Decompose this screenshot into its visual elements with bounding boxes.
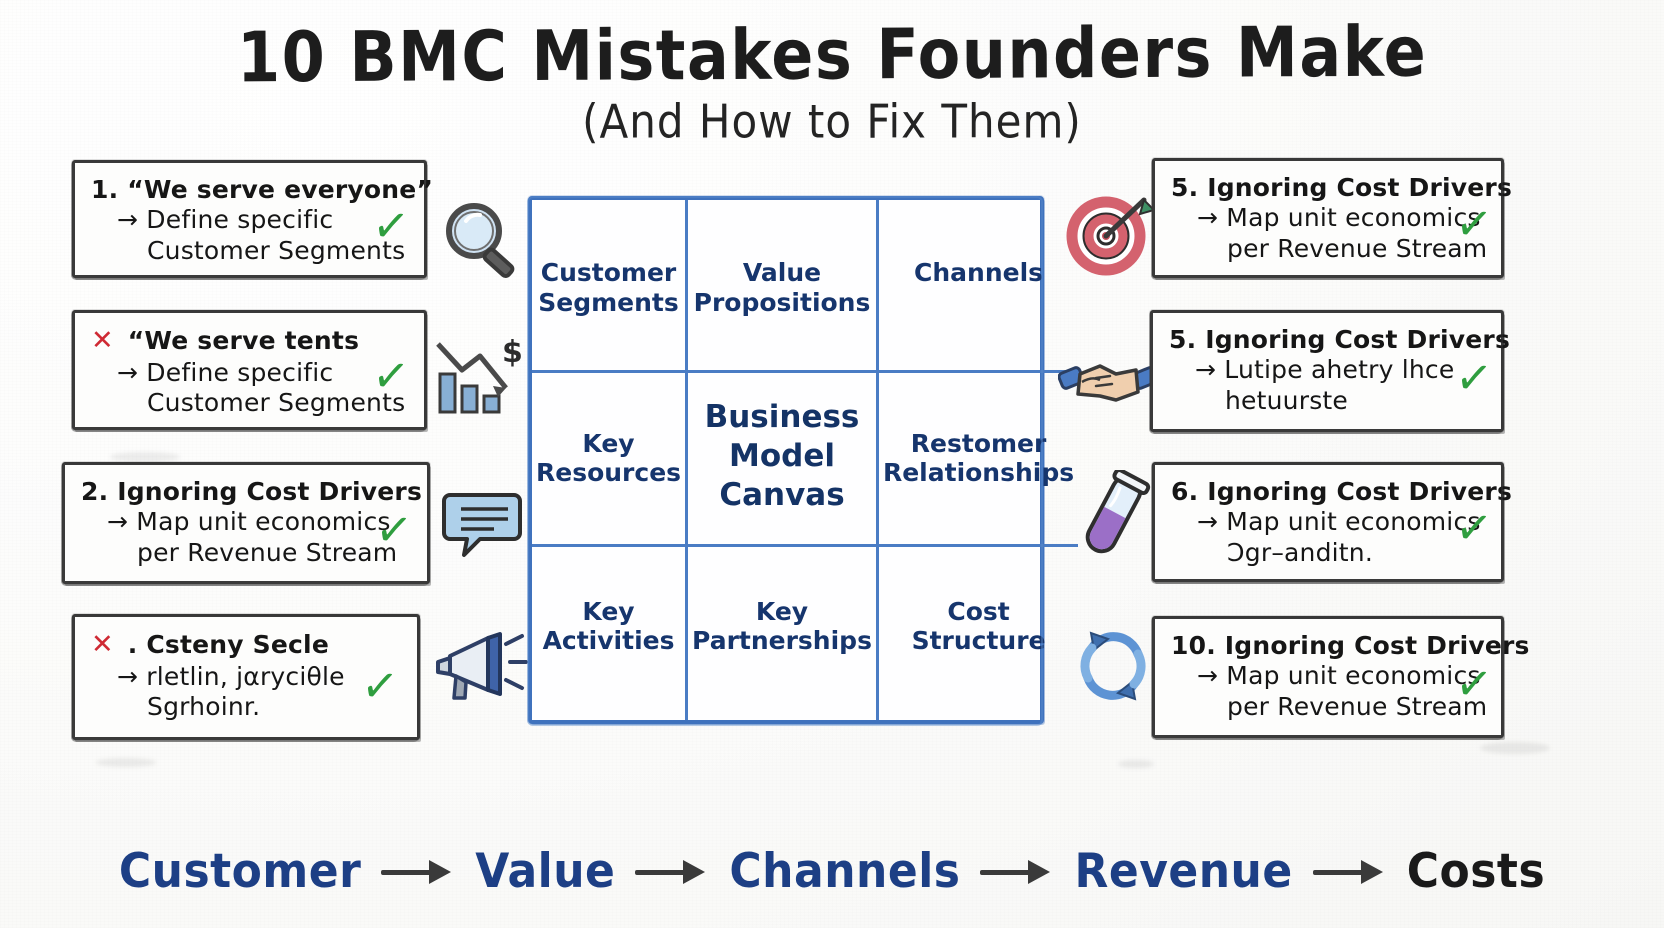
bmc-cell-value-propositions[interactable]: ValuePropositions [688, 200, 879, 373]
flow-arrow-icon [635, 859, 709, 885]
mistake-card-left-1[interactable]: 1. “We serve everyone” → Define specific… [72, 160, 427, 278]
svg-text:$: $ [502, 336, 523, 370]
flow-step-value[interactable]: Value [475, 844, 615, 899]
page-subtitle: (And How to Fix Them) [0, 98, 1664, 147]
card-title-line: 5. Ignoring Cost Drivers [1171, 173, 1487, 203]
test-tube-icon [1072, 470, 1154, 562]
bmc-cell-label: Channels [914, 258, 1043, 288]
smudge-mark [96, 758, 156, 767]
circular-arrows-icon [1070, 624, 1156, 710]
mistake-card-right-1[interactable]: 5. Ignoring Cost Drivers → Map unit econ… [1152, 158, 1504, 278]
card-marker: 10. [1171, 631, 1216, 660]
card-headline: Ignoring Cost Drivers [117, 477, 422, 506]
card-headline: Ignoring Cost Drivers [1207, 173, 1512, 202]
card-title-line: 1. “We serve everyone” [91, 175, 410, 205]
infographic-canvas: 10 BMC Mistakes Founders Make (And How t… [0, 0, 1664, 928]
bmc-cell-label: RestomerRelationships [883, 429, 1074, 488]
card-headline: Ignoring Cost Drivers [1225, 631, 1530, 660]
mistake-card-right-3[interactable]: 6. Ignoring Cost Drivers → Map unit econ… [1152, 462, 1504, 582]
bmc-cell-label: KeyPartnerships [692, 597, 872, 656]
flow-arrow-icon [381, 859, 455, 885]
flow-step-revenue[interactable]: Revenue [1074, 844, 1292, 899]
card-fix-line-2: hetuurste [1169, 386, 1487, 416]
flow-step-channels[interactable]: Channels [729, 844, 960, 899]
card-fix-line-1: → Map unit economics [1171, 661, 1487, 691]
page-title-block: 10 BMC Mistakes Founders Make (And How t… [0, 18, 1664, 144]
card-title-line: 2. Ignoring Cost Drivers [81, 477, 413, 507]
card-title-line: 10. Ignoring Cost Drivers [1171, 631, 1487, 661]
bmc-cell-label: KeyActivities [543, 597, 675, 656]
bmc-cell-center-title: BusinessModelCanvas [688, 373, 879, 546]
card-fix-line-1: → Define specific [91, 358, 410, 388]
bmc-cell-cost-structure[interactable]: CostStructure [879, 547, 1078, 720]
card-fix-line-1: → Lutipe ahetry lhce [1169, 355, 1487, 385]
speech-bubble-icon [442, 487, 524, 561]
card-title-line: ✕ “We serve tents [91, 325, 410, 358]
bmc-center-label: BusinessModelCanvas [705, 398, 860, 514]
flow-step-costs[interactable]: Costs [1407, 844, 1545, 899]
card-fix-line-2: per Revenue Stream [1171, 234, 1487, 264]
card-fix-line-1: → Define specific [91, 205, 410, 235]
magnifier-icon [436, 195, 526, 285]
mistake-card-left-3[interactable]: 2. Ignoring Cost Drivers → Map unit econ… [62, 462, 430, 584]
card-headline: Ignoring Cost Drivers [1207, 477, 1512, 506]
card-fix-line-2: Customer Segments [91, 388, 410, 418]
flow-step-customer[interactable]: Customer [119, 844, 361, 899]
business-model-canvas-grid: CustomerSegments ValuePropositions Chann… [528, 196, 1044, 724]
bmc-cell-customer-segments[interactable]: CustomerSegments [532, 200, 688, 373]
bmc-cell-label: CustomerSegments [538, 258, 679, 317]
card-marker: 2. [81, 477, 108, 506]
card-title-line: 5. Ignoring Cost Drivers [1169, 325, 1487, 355]
bmc-cell-channels[interactable]: Channels [879, 200, 1078, 373]
megaphone-icon [432, 628, 528, 706]
card-headline: Ignoring Cost Drivers [1205, 325, 1510, 354]
card-headline: “We serve tents [128, 326, 359, 355]
card-fix-line-1: → Map unit economics [1171, 507, 1487, 537]
mistake-card-right-2[interactable]: 5. Ignoring Cost Drivers → Lutipe ahetry… [1150, 310, 1504, 432]
bmc-cell-key-activities[interactable]: KeyActivities [532, 547, 688, 720]
x-icon: ✕ [91, 629, 114, 660]
smudge-mark [1118, 760, 1154, 768]
bmc-cell-label: KeyResources [536, 429, 681, 488]
card-headline: . Csteny Secle [128, 630, 329, 659]
card-fix-line-1: → rletlin, jαryciθle [91, 662, 403, 692]
card-fix-line-2: Sgrhoinr. [91, 692, 403, 722]
card-fix-line-2: Customer Segments [91, 236, 410, 266]
process-flow-row: Customer Value Channels Revenue Costs [0, 846, 1664, 897]
card-marker: 6. [1171, 477, 1198, 506]
flow-arrow-icon [1313, 859, 1387, 885]
card-title-line: ✕ . Csteny Secle [91, 629, 403, 662]
mistake-card-right-4[interactable]: 10. Ignoring Cost Drivers → Map unit eco… [1152, 616, 1504, 738]
card-title-line: 6. Ignoring Cost Drivers [1171, 477, 1487, 507]
card-fix-line-2: Ɔgr–anditn. [1171, 538, 1487, 568]
card-headline: “We serve everyone” [127, 175, 433, 204]
card-fix-line-1: → Map unit economics [81, 507, 413, 537]
card-marker: 5. [1169, 325, 1196, 354]
x-icon: ✕ [91, 325, 114, 356]
card-marker: 5. [1171, 173, 1198, 202]
mistake-card-left-2[interactable]: ✕ “We serve tents → Define specific Cust… [72, 310, 427, 430]
bmc-cell-key-resources[interactable]: KeyResources [532, 373, 688, 546]
bmc-cell-customer-relationships[interactable]: RestomerRelationships [879, 373, 1078, 546]
flow-arrow-icon [980, 859, 1054, 885]
card-marker: 1. [91, 175, 118, 204]
mistake-card-left-4[interactable]: ✕ . Csteny Secle → rletlin, jαryciθle Sg… [72, 614, 420, 740]
bmc-cell-key-partnerships[interactable]: KeyPartnerships [688, 547, 879, 720]
smudge-mark [1480, 742, 1550, 754]
bmc-cell-label: CostStructure [912, 597, 1046, 656]
card-fix-line-1: → Map unit economics [1171, 203, 1487, 233]
card-fix-line-2: per Revenue Stream [1171, 692, 1487, 722]
card-fix-line-2: per Revenue Stream [81, 538, 413, 568]
bmc-cell-label: ValuePropositions [694, 258, 871, 317]
declining-bar-chart-dollar-icon: $ [432, 336, 524, 418]
page-title: 10 BMC Mistakes Founders Make [0, 14, 1664, 96]
smudge-mark [110, 452, 180, 462]
